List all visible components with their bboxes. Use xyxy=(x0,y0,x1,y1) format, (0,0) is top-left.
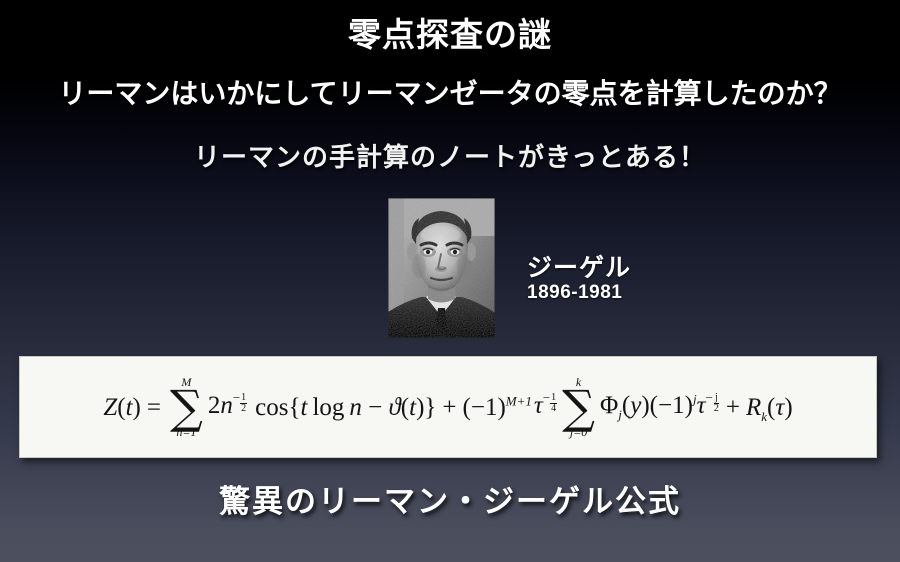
summation-2: k ∑ j=0 xyxy=(562,376,595,438)
person-years-label: 1896-1981 xyxy=(527,282,622,304)
slide-subtitle: リーマンはいかにしてリーマンゼータの零点を計算したのか？ xyxy=(0,72,900,112)
formula-box: Z(t) = M ∑ n=1 2n−12 cos{t log n − ϑ(t)}… xyxy=(19,356,877,458)
person-name-label: ジーゲル xyxy=(527,248,631,284)
sigma-glyph-1: ∑ xyxy=(170,387,203,427)
summation-1: M ∑ n=1 xyxy=(170,376,203,438)
portrait-image xyxy=(388,198,495,338)
slide-tagline: リーマンの手計算のノートがきっとある！ xyxy=(0,137,900,174)
riemann-siegel-formula: Z(t) = M ∑ n=1 2n−12 cos{t log n − ϑ(t)}… xyxy=(102,376,793,438)
slide-caption: 驚異のリーマン・ジーゲル公式 xyxy=(0,476,900,521)
sum1-lower-limit: n=1 xyxy=(176,426,196,438)
presentation-slide: 零点探査の謎 リーマンはいかにしてリーマンゼータの零点を計算したのか？ リーマン… xyxy=(0,0,900,562)
portrait-photo-siegel xyxy=(388,198,495,338)
slide-title: 零点探査の謎 xyxy=(0,8,900,56)
sigma-glyph-2: ∑ xyxy=(562,387,595,427)
sum2-lower-limit: j=0 xyxy=(570,426,587,438)
